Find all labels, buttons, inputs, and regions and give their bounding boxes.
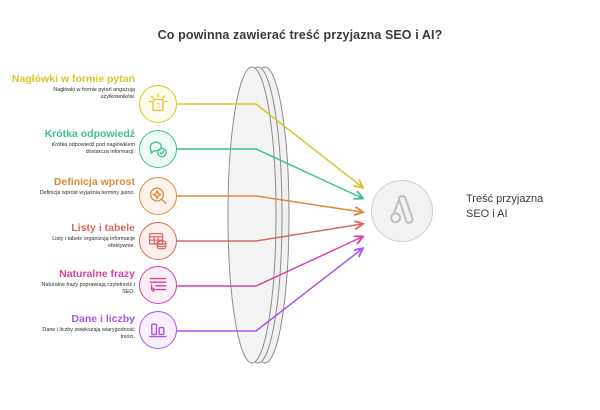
item-description: Krótka odpowiedź pod nagłówkiem dostarcz… xyxy=(0,141,137,156)
item-description: Naturalne frazy poprawiają czytelność i … xyxy=(0,281,137,296)
question-box-idea-icon: ? xyxy=(139,85,177,123)
abstract-a-logo-icon xyxy=(382,189,422,234)
connector-4 xyxy=(173,224,362,241)
page-title: Co powinna zawierać treść przyjazna SEO … xyxy=(0,28,600,42)
target-label-line2: SEO i AI xyxy=(466,207,596,222)
item-title: Listy i tabele xyxy=(0,222,137,235)
target-label: Treść przyjazna SEO i AI xyxy=(466,192,596,222)
list-item[interactable]: Dane i liczby Dane i liczby zwiększają w… xyxy=(0,313,137,341)
item-title: Definicja wprost xyxy=(0,176,137,189)
item-title: Nagłówki w formie pytań xyxy=(0,73,137,86)
connector-2 xyxy=(173,149,362,198)
speech-bubble-check-icon xyxy=(139,130,177,168)
item-title: Naturalne frazy xyxy=(0,268,137,281)
item-description: Definicja wprost wyjaśnia terminy jasno. xyxy=(0,189,137,197)
svg-text:?: ? xyxy=(156,101,160,110)
item-title: Dane i liczby xyxy=(0,313,137,326)
item-description: Nagłówki w formie pytań angażują użytkow… xyxy=(0,86,137,101)
item-description: Listy i tabele organizują informacje efe… xyxy=(0,235,137,250)
list-item[interactable]: Nagłówki w formie pytań Nagłówki w formi… xyxy=(0,73,137,101)
connector-3 xyxy=(173,196,362,212)
item-description: Dane i liczby zwiększają wiarygodność tr… xyxy=(0,326,137,341)
list-item[interactable]: Definicja wprost Definicja wprost wyjaśn… xyxy=(0,176,137,197)
connector-1 xyxy=(173,104,362,187)
connector-5 xyxy=(173,237,362,286)
central-lens-shape xyxy=(228,67,289,363)
target-node[interactable] xyxy=(371,180,433,242)
magnifier-sparkle-icon xyxy=(139,177,177,215)
list-item[interactable]: Naturalne frazy Naturalne frazy poprawia… xyxy=(0,268,137,296)
item-title: Krótka odpowiedź xyxy=(0,128,137,141)
bar-chart-icon xyxy=(139,311,177,349)
table-database-icon xyxy=(139,222,177,260)
list-item[interactable]: Krótka odpowiedź Krótka odpowiedź pod na… xyxy=(0,128,137,156)
text-lines-arrow-icon xyxy=(139,266,177,304)
connector-6 xyxy=(173,249,362,331)
target-label-line1: Treść przyjazna xyxy=(466,192,596,207)
list-item[interactable]: Listy i tabele Listy i tabele organizują… xyxy=(0,222,137,250)
